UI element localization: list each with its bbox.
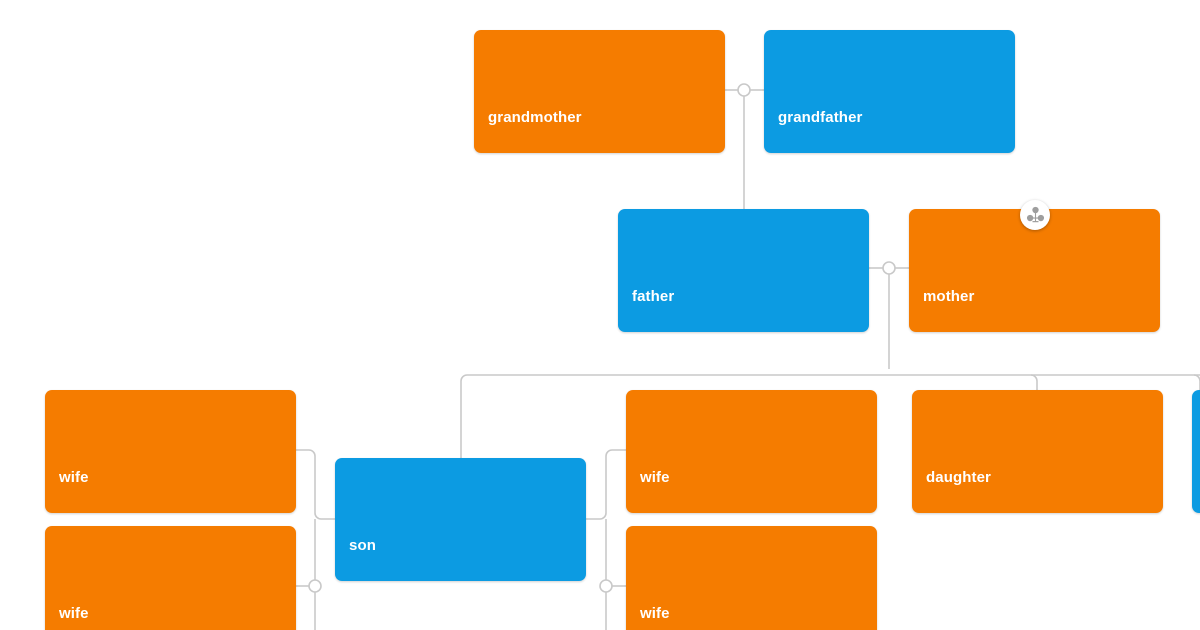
node-label-daughter: daughter [912, 470, 991, 513]
node-label-grandmother: grandmother [474, 110, 582, 153]
node-label-son: son [335, 538, 376, 581]
node-label-wife-son-4: wife [626, 606, 670, 630]
edge-son-left-bracket [296, 450, 335, 519]
node-label-mother: mother [909, 289, 974, 332]
marriage-joint-son-right [600, 580, 612, 592]
marriage-joint-grandparents [738, 84, 750, 96]
node-grandfather[interactable]: grandfather [764, 30, 1015, 153]
node-son[interactable]: son [335, 458, 586, 581]
node-offscreen-right[interactable] [1192, 390, 1200, 513]
node-wife-son-4[interactable]: wife [626, 526, 877, 630]
family-icon-badge[interactable] [1020, 200, 1050, 230]
node-daughter[interactable]: daughter [912, 390, 1163, 513]
node-wife-son-3[interactable]: wife [626, 390, 877, 513]
node-wife-son-1[interactable]: wife [45, 390, 296, 513]
node-label-wife-son-3: wife [626, 470, 670, 513]
edge-bus-to-daughter [1031, 375, 1037, 390]
node-label-offscreen-right [1192, 485, 1200, 513]
node-label-grandfather: grandfather [764, 110, 862, 153]
node-label-wife-son-2: wife [45, 606, 89, 630]
family-icon [1026, 206, 1045, 225]
node-label-wife-son-1: wife [45, 470, 89, 513]
edge-son-right-bracket [586, 450, 626, 519]
node-wife-son-2[interactable]: wife [45, 526, 296, 630]
edge-bus-to-offscreen [1194, 375, 1200, 390]
marriage-joint-parents [883, 262, 895, 274]
node-father[interactable]: father [618, 209, 869, 332]
node-label-father: father [618, 289, 674, 332]
node-grandmother[interactable]: grandmother [474, 30, 725, 153]
family-tree-canvas[interactable]: grandmother grandfather father mother wi… [0, 0, 1200, 630]
marriage-joint-son-left [309, 580, 321, 592]
